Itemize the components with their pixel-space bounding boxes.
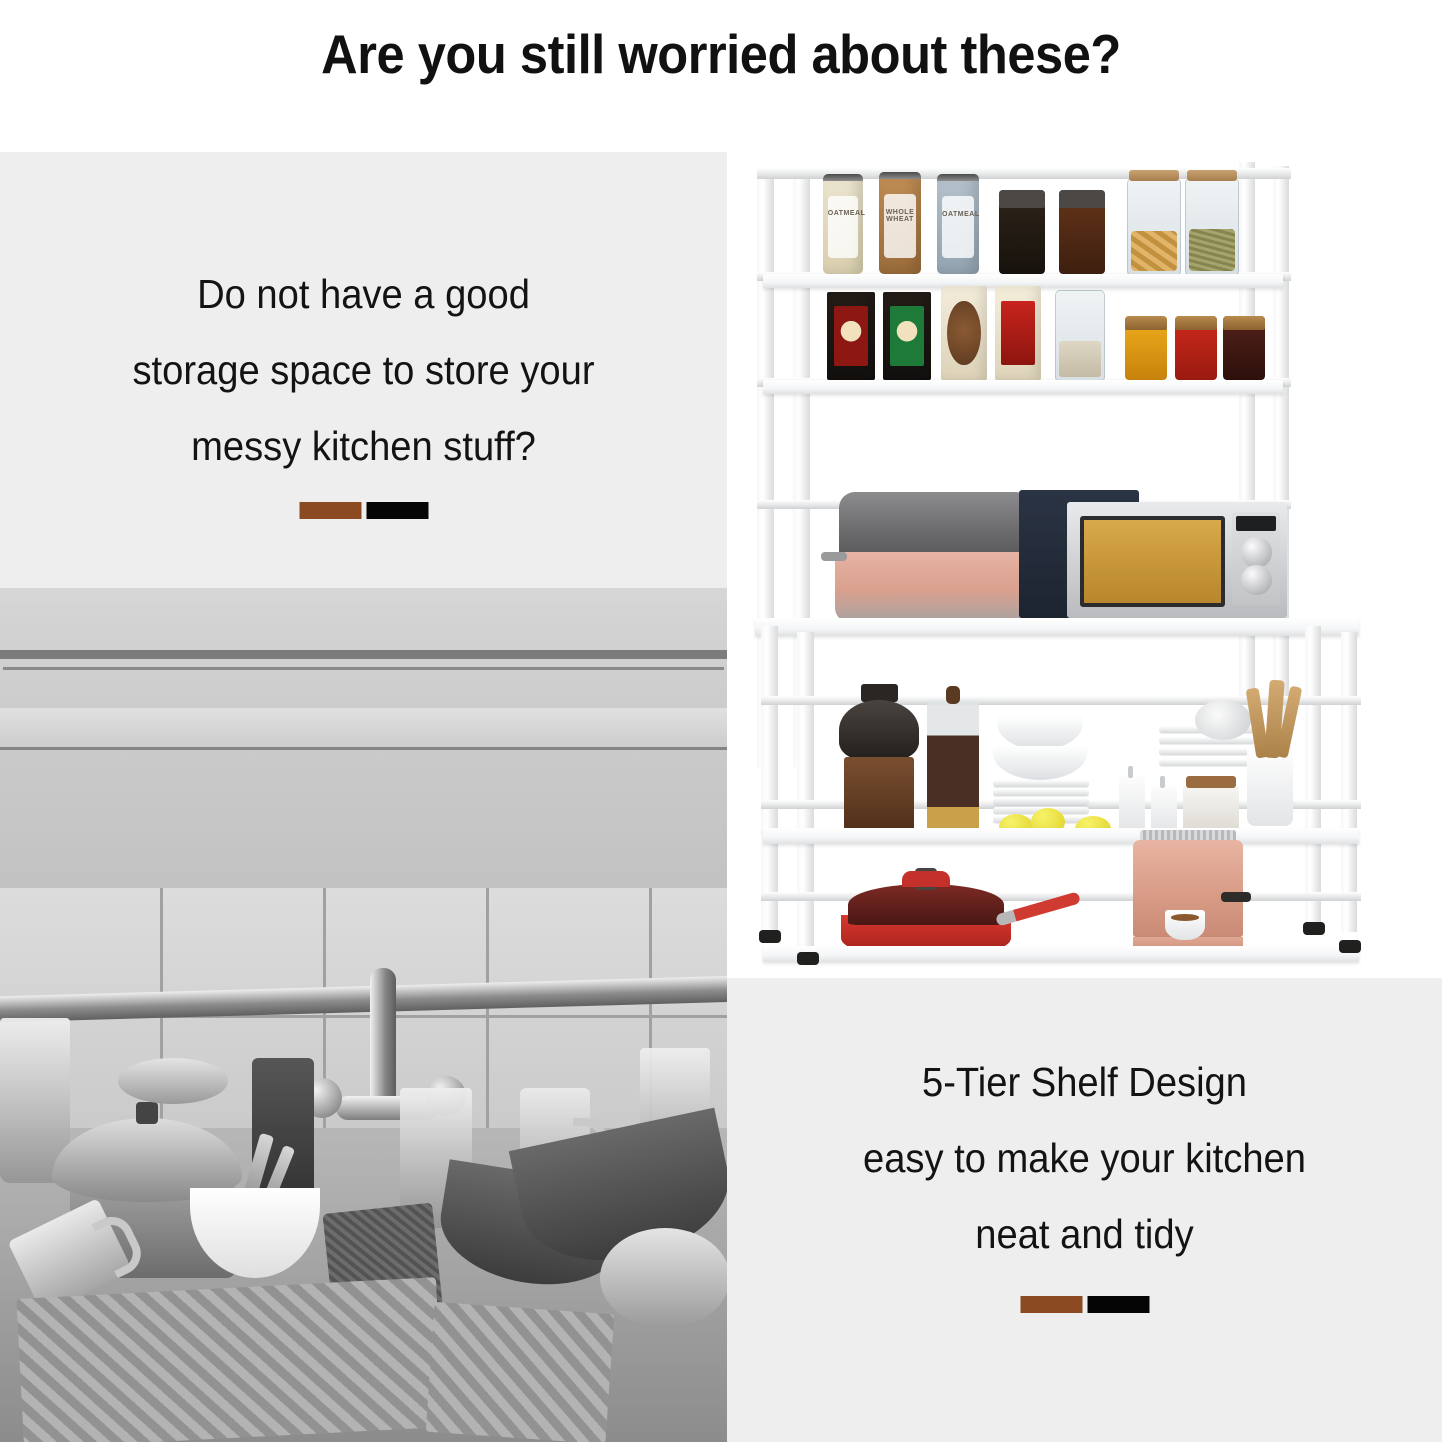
plate — [993, 780, 1089, 787]
can-lid — [823, 174, 863, 181]
hutch-post-right-back — [1239, 162, 1255, 722]
problem-text-panel: Do not have a good storage space to stor… — [0, 152, 727, 588]
can-label: WHOLE WHEAT — [884, 194, 916, 257]
skillet-lid-knob — [902, 871, 950, 887]
bowl-plate — [1159, 759, 1255, 766]
bowl-plate — [1159, 737, 1255, 744]
foot-right-front — [1339, 940, 1361, 953]
red-sauce-jar — [1175, 316, 1217, 380]
jar-cap-wood — [1125, 316, 1167, 330]
tin-label-mint — [890, 306, 925, 366]
ceramic-utensil-crock — [1247, 746, 1293, 826]
microwave-display — [1236, 516, 1276, 531]
shelf-board-tier-2 — [763, 380, 1283, 394]
shelf-rack-structure: OATMEAL WHOLE WHEAT OATMEAL — [727, 140, 1442, 978]
french-press — [927, 702, 979, 830]
base-post-right-front — [1341, 632, 1357, 932]
tiled-wall-upper — [0, 588, 727, 888]
foot-left-front — [797, 952, 819, 965]
pasta-contents — [1131, 231, 1177, 271]
rose-gold-espresso-machine — [1133, 840, 1243, 958]
bowl-plate — [1159, 748, 1255, 755]
product-photo-5-tier-shelf: OATMEAL WHOLE WHEAT OATMEAL — [727, 140, 1442, 978]
soap-dispenser-1 — [1119, 776, 1145, 832]
honey-jar — [1125, 316, 1167, 380]
manual-coffee-grinder — [839, 700, 919, 830]
dark-preserve-jar — [999, 190, 1045, 274]
grinder-bowl — [839, 700, 919, 760]
dark-jam-jar — [1223, 316, 1265, 380]
cooker-handle — [821, 552, 847, 561]
patterned-bowl — [1195, 700, 1251, 740]
jar-wood-lid — [1187, 170, 1237, 181]
microwave-door — [1080, 516, 1224, 608]
cooker-body — [835, 552, 1035, 622]
marketing-image-canvas: Are you still worried about these? Do no… — [0, 0, 1442, 1442]
rib-and-chicken-sauce-tin — [827, 292, 875, 380]
shelf-board-tier-5 — [763, 946, 1359, 962]
amber-preserve-jar — [1059, 190, 1105, 274]
divider-brown-segment — [1020, 1296, 1082, 1313]
hutch-post-right-front — [1273, 166, 1289, 726]
jar-cap — [999, 190, 1045, 208]
canister-wood-lid — [1186, 776, 1235, 788]
problem-line-1: Do not have a good — [25, 256, 701, 332]
problem-line-2: storage space to store your — [25, 332, 701, 408]
solution-line-3: neat and tidy — [752, 1196, 1417, 1272]
white-bowl-upper — [997, 716, 1083, 750]
organic-whole-wheat-canister: WHOLE WHEAT — [879, 172, 921, 274]
spice-box — [995, 286, 1041, 380]
problem-line-3: messy kitchen stuff? — [25, 408, 701, 484]
shelf-board-tier-4 — [763, 828, 1359, 844]
solution-text-panel: 5-Tier Shelf Design easy to make your ki… — [727, 978, 1442, 1442]
problem-divider — [299, 502, 428, 519]
dish-cloth — [426, 1302, 615, 1442]
dirty-plate-1 — [118, 1058, 228, 1104]
organic-oatmeal-canister-blue: OATMEAL — [937, 174, 979, 274]
solution-line-2: easy to make your kitchen — [752, 1120, 1417, 1196]
jar-wood-lid — [1129, 170, 1179, 181]
mint-sauce-tin — [883, 292, 931, 380]
ceramic-canister — [1183, 786, 1239, 834]
espresso-cup — [1165, 910, 1205, 940]
espresso-steam-wand — [1221, 892, 1251, 902]
plate — [993, 789, 1089, 796]
jar-contents-flour — [1059, 341, 1101, 377]
jar-cap-wood — [1223, 316, 1265, 330]
jar-cap — [1059, 190, 1105, 208]
microwave-knob-lower[interactable] — [1241, 565, 1272, 596]
microwave-knob-upper[interactable] — [1241, 537, 1272, 568]
clamp-glass-jar — [1055, 290, 1105, 382]
cooker-lid — [839, 492, 1031, 560]
organic-oatmeal-canister: OATMEAL — [823, 174, 863, 274]
skillet-lid — [848, 884, 1004, 925]
spice-box-art — [1001, 301, 1034, 365]
foot-right-back — [1303, 922, 1325, 935]
can-lid — [937, 174, 979, 181]
white-bowl-lower — [993, 746, 1087, 780]
glass-jar-pasta — [1127, 178, 1181, 276]
page-title: Are you still worried about these? — [58, 22, 1385, 86]
messy-kitchen-sink-photo — [0, 588, 727, 1442]
cocoa-box — [941, 286, 987, 380]
glass-jar-grains — [1185, 178, 1239, 276]
problem-copy: Do not have a good storage space to stor… — [25, 256, 701, 484]
grinder-wood-base — [844, 757, 914, 830]
solution-line-1: 5-Tier Shelf Design — [752, 1044, 1417, 1120]
plate — [993, 798, 1089, 805]
base-post-left-front — [797, 632, 814, 950]
grain-contents — [1189, 229, 1235, 271]
soap-dispenser-2 — [1151, 786, 1177, 832]
jar-cap-wood — [1175, 316, 1217, 330]
base-post-right-back — [1305, 626, 1321, 926]
rose-gold-rice-cooker — [835, 492, 1035, 622]
divider-black-segment — [366, 502, 428, 519]
foot-left-back — [759, 930, 781, 943]
cocoa-box-art — [947, 301, 980, 365]
can-label: OATMEAL — [942, 196, 974, 258]
tin-label-rib-chicken — [834, 306, 869, 366]
shelf-board-worktop — [755, 618, 1359, 636]
solution-copy: 5-Tier Shelf Design easy to make your ki… — [752, 1044, 1417, 1272]
divider-black-segment — [1087, 1296, 1149, 1313]
press-knob — [946, 686, 961, 704]
stainless-microwave-oven — [1067, 502, 1287, 618]
divider-brown-segment — [299, 502, 361, 519]
dish-towel — [16, 1277, 443, 1442]
dirty-plate-2 — [600, 1228, 727, 1328]
solution-divider — [1020, 1296, 1149, 1313]
can-lid — [879, 172, 921, 179]
can-label: OATMEAL — [828, 196, 858, 258]
